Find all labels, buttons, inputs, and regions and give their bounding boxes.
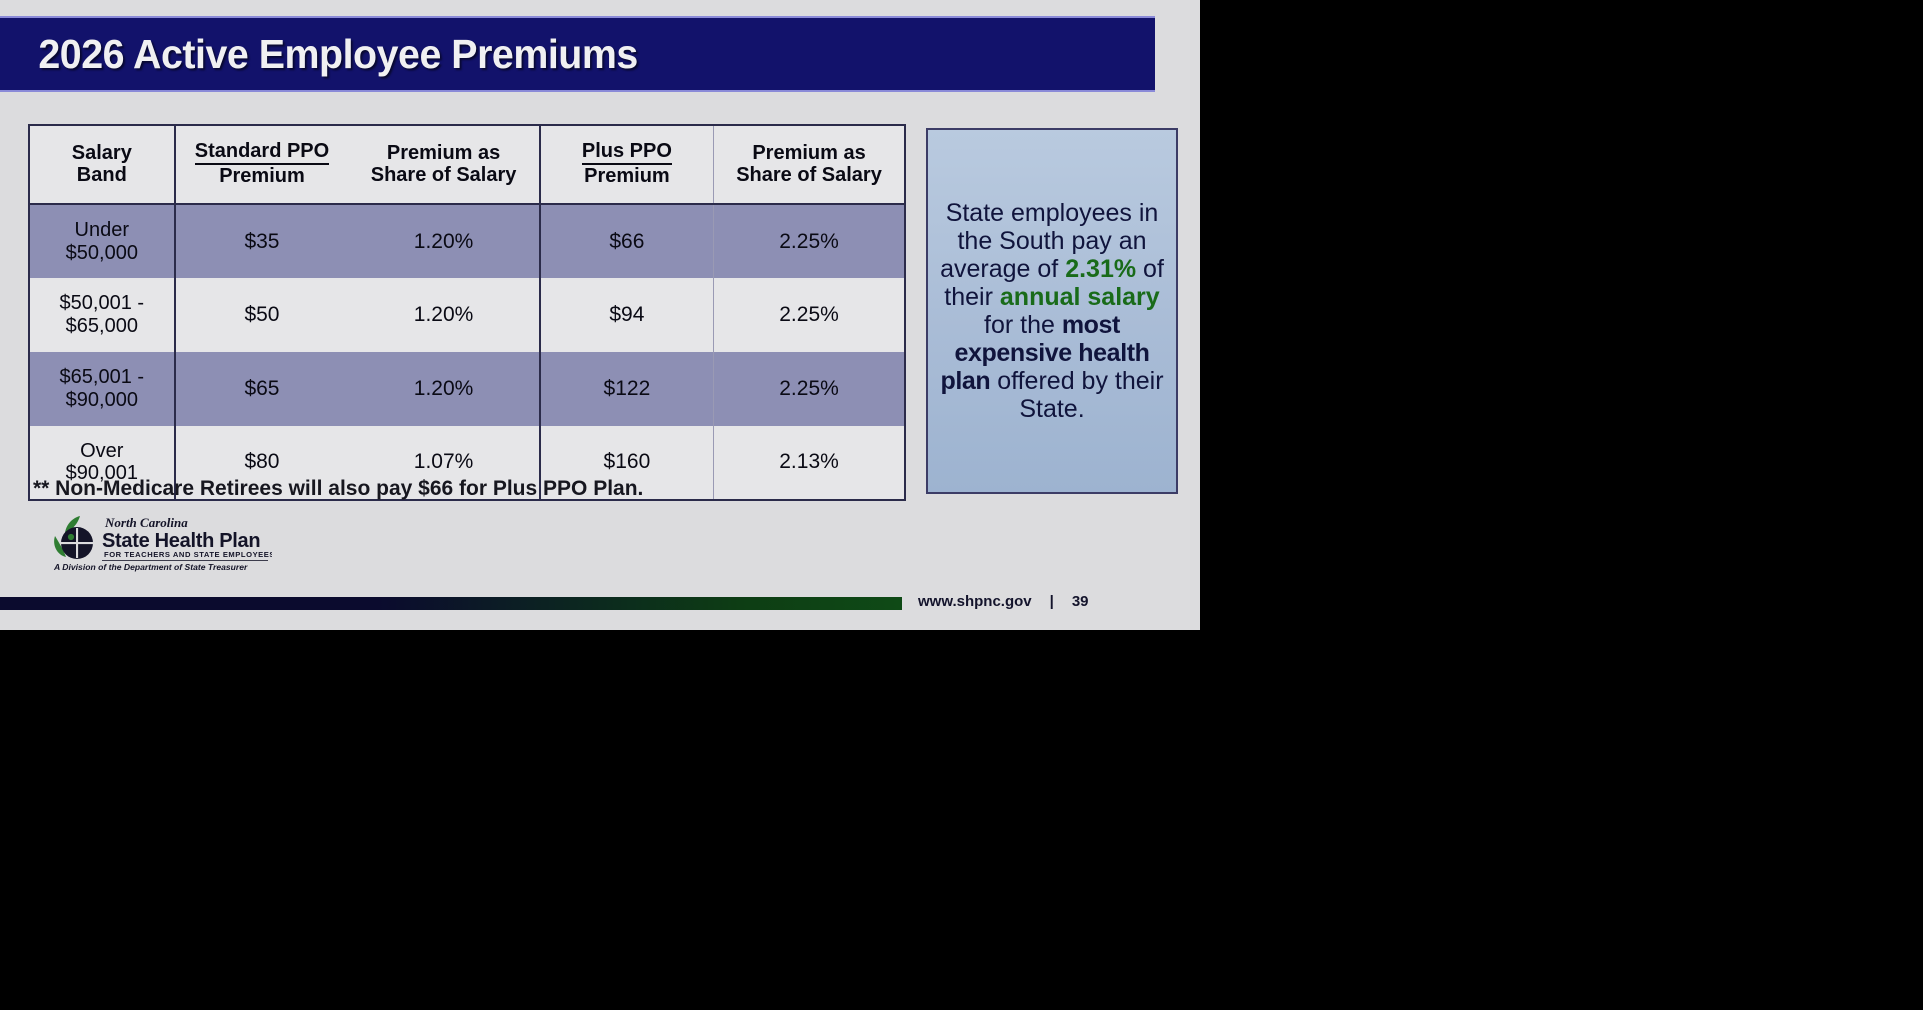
cell-standard-premium: $50 bbox=[175, 278, 349, 352]
column-header-salary-band: Salary Band bbox=[29, 125, 175, 204]
callout-highlight-annual-salary: annual salary bbox=[1000, 283, 1160, 311]
cell-salary-band: $65,001 -$90,000 bbox=[29, 352, 175, 426]
cell-standard-share: 1.20% bbox=[348, 204, 539, 279]
shpnc-logo-svg: North Carolina State Health Plan FOR TEA… bbox=[50, 512, 272, 574]
footer-separator: | bbox=[1050, 593, 1054, 610]
logo-tagline: A Division of the Department of State Tr… bbox=[53, 562, 248, 572]
logo-sub-line: FOR TEACHERS AND STATE EMPLOYEES bbox=[104, 550, 272, 559]
table-row: $65,001 -$90,000$651.20%$1222.25% bbox=[29, 352, 905, 426]
column-header-standard-share: Premium as Share of Salary bbox=[348, 125, 539, 204]
cell-standard-share: 1.20% bbox=[348, 278, 539, 352]
table-header-row: Salary Band Standard PPO Premium Premium… bbox=[29, 125, 905, 204]
column-header-plus-share: Premium as Share of Salary bbox=[714, 125, 905, 204]
table-body: Under$50,000$351.20%$662.25%$50,001 -$65… bbox=[29, 204, 905, 500]
logo-main-line: State Health Plan bbox=[102, 530, 260, 552]
plus-ppo-label: Plus PPO bbox=[582, 140, 672, 165]
plus-ppo-sublabel: Premium bbox=[584, 165, 670, 187]
cell-standard-premium: $35 bbox=[175, 204, 349, 279]
plus-share-line1: Premium as bbox=[752, 142, 865, 164]
table-row: $50,001 -$65,000$501.20%$942.25% bbox=[29, 278, 905, 352]
cell-plus-share: 2.25% bbox=[714, 204, 905, 279]
standard-ppo-label: Standard PPO bbox=[195, 140, 329, 165]
shpnc-logo: North Carolina State Health Plan FOR TEA… bbox=[50, 512, 272, 574]
slide-canvas: 2026 Active Employee Premiums Salary Ban… bbox=[0, 0, 1200, 630]
plus-share-line2: Share of Salary bbox=[736, 164, 882, 186]
footer-website[interactable]: www.shpnc.gov bbox=[918, 593, 1032, 610]
footer-page-number: 39 bbox=[1072, 593, 1089, 610]
callout-highlight-percent: 2.31% bbox=[1065, 255, 1136, 283]
footer-meta: www.shpnc.gov | 39 bbox=[918, 593, 1089, 610]
column-header-standard-ppo-premium: Standard PPO Premium bbox=[175, 125, 349, 204]
table-row: Under$50,000$351.20%$662.25% bbox=[29, 204, 905, 279]
cell-plus-premium: $122 bbox=[540, 352, 714, 426]
standard-share-line2: Share of Salary bbox=[371, 164, 517, 186]
salary-band-label-line1: Salary bbox=[72, 142, 132, 164]
cell-plus-premium: $66 bbox=[540, 204, 714, 279]
cell-plus-premium: $94 bbox=[540, 278, 714, 352]
cell-standard-share: 1.20% bbox=[348, 352, 539, 426]
cell-standard-premium: $65 bbox=[175, 352, 349, 426]
apple-icon bbox=[61, 527, 93, 559]
callout-part3: for the bbox=[984, 311, 1062, 339]
table-footnote: ** Non-Medicare Retirees will also pay $… bbox=[33, 477, 643, 501]
premium-table: Salary Band Standard PPO Premium Premium… bbox=[28, 124, 906, 501]
cell-plus-share: 2.25% bbox=[714, 278, 905, 352]
cell-salary-band: $50,001 -$65,000 bbox=[29, 278, 175, 352]
column-header-plus-ppo-premium: Plus PPO Premium bbox=[540, 125, 714, 204]
standard-share-line1: Premium as bbox=[387, 142, 500, 164]
footer-gradient-bar bbox=[0, 597, 902, 610]
table-header: Salary Band Standard PPO Premium Premium… bbox=[29, 125, 905, 204]
callout-box: State employees in the South pay an aver… bbox=[926, 128, 1178, 494]
callout-text: State employees in the South pay an aver… bbox=[936, 199, 1168, 423]
cell-plus-share: 2.25% bbox=[714, 352, 905, 426]
cell-salary-band: Under$50,000 bbox=[29, 204, 175, 279]
logo-script-line: North Carolina bbox=[104, 515, 188, 530]
salary-band-label-line2: Band bbox=[77, 164, 127, 186]
slide-title-bar: 2026 Active Employee Premiums bbox=[0, 16, 1155, 92]
cell-plus-share: 2.13% bbox=[714, 426, 905, 501]
callout-part4: offered by their State. bbox=[990, 367, 1163, 423]
logo-divider bbox=[102, 560, 268, 561]
page-title: 2026 Active Employee Premiums bbox=[0, 31, 638, 78]
standard-ppo-sublabel: Premium bbox=[219, 165, 305, 187]
